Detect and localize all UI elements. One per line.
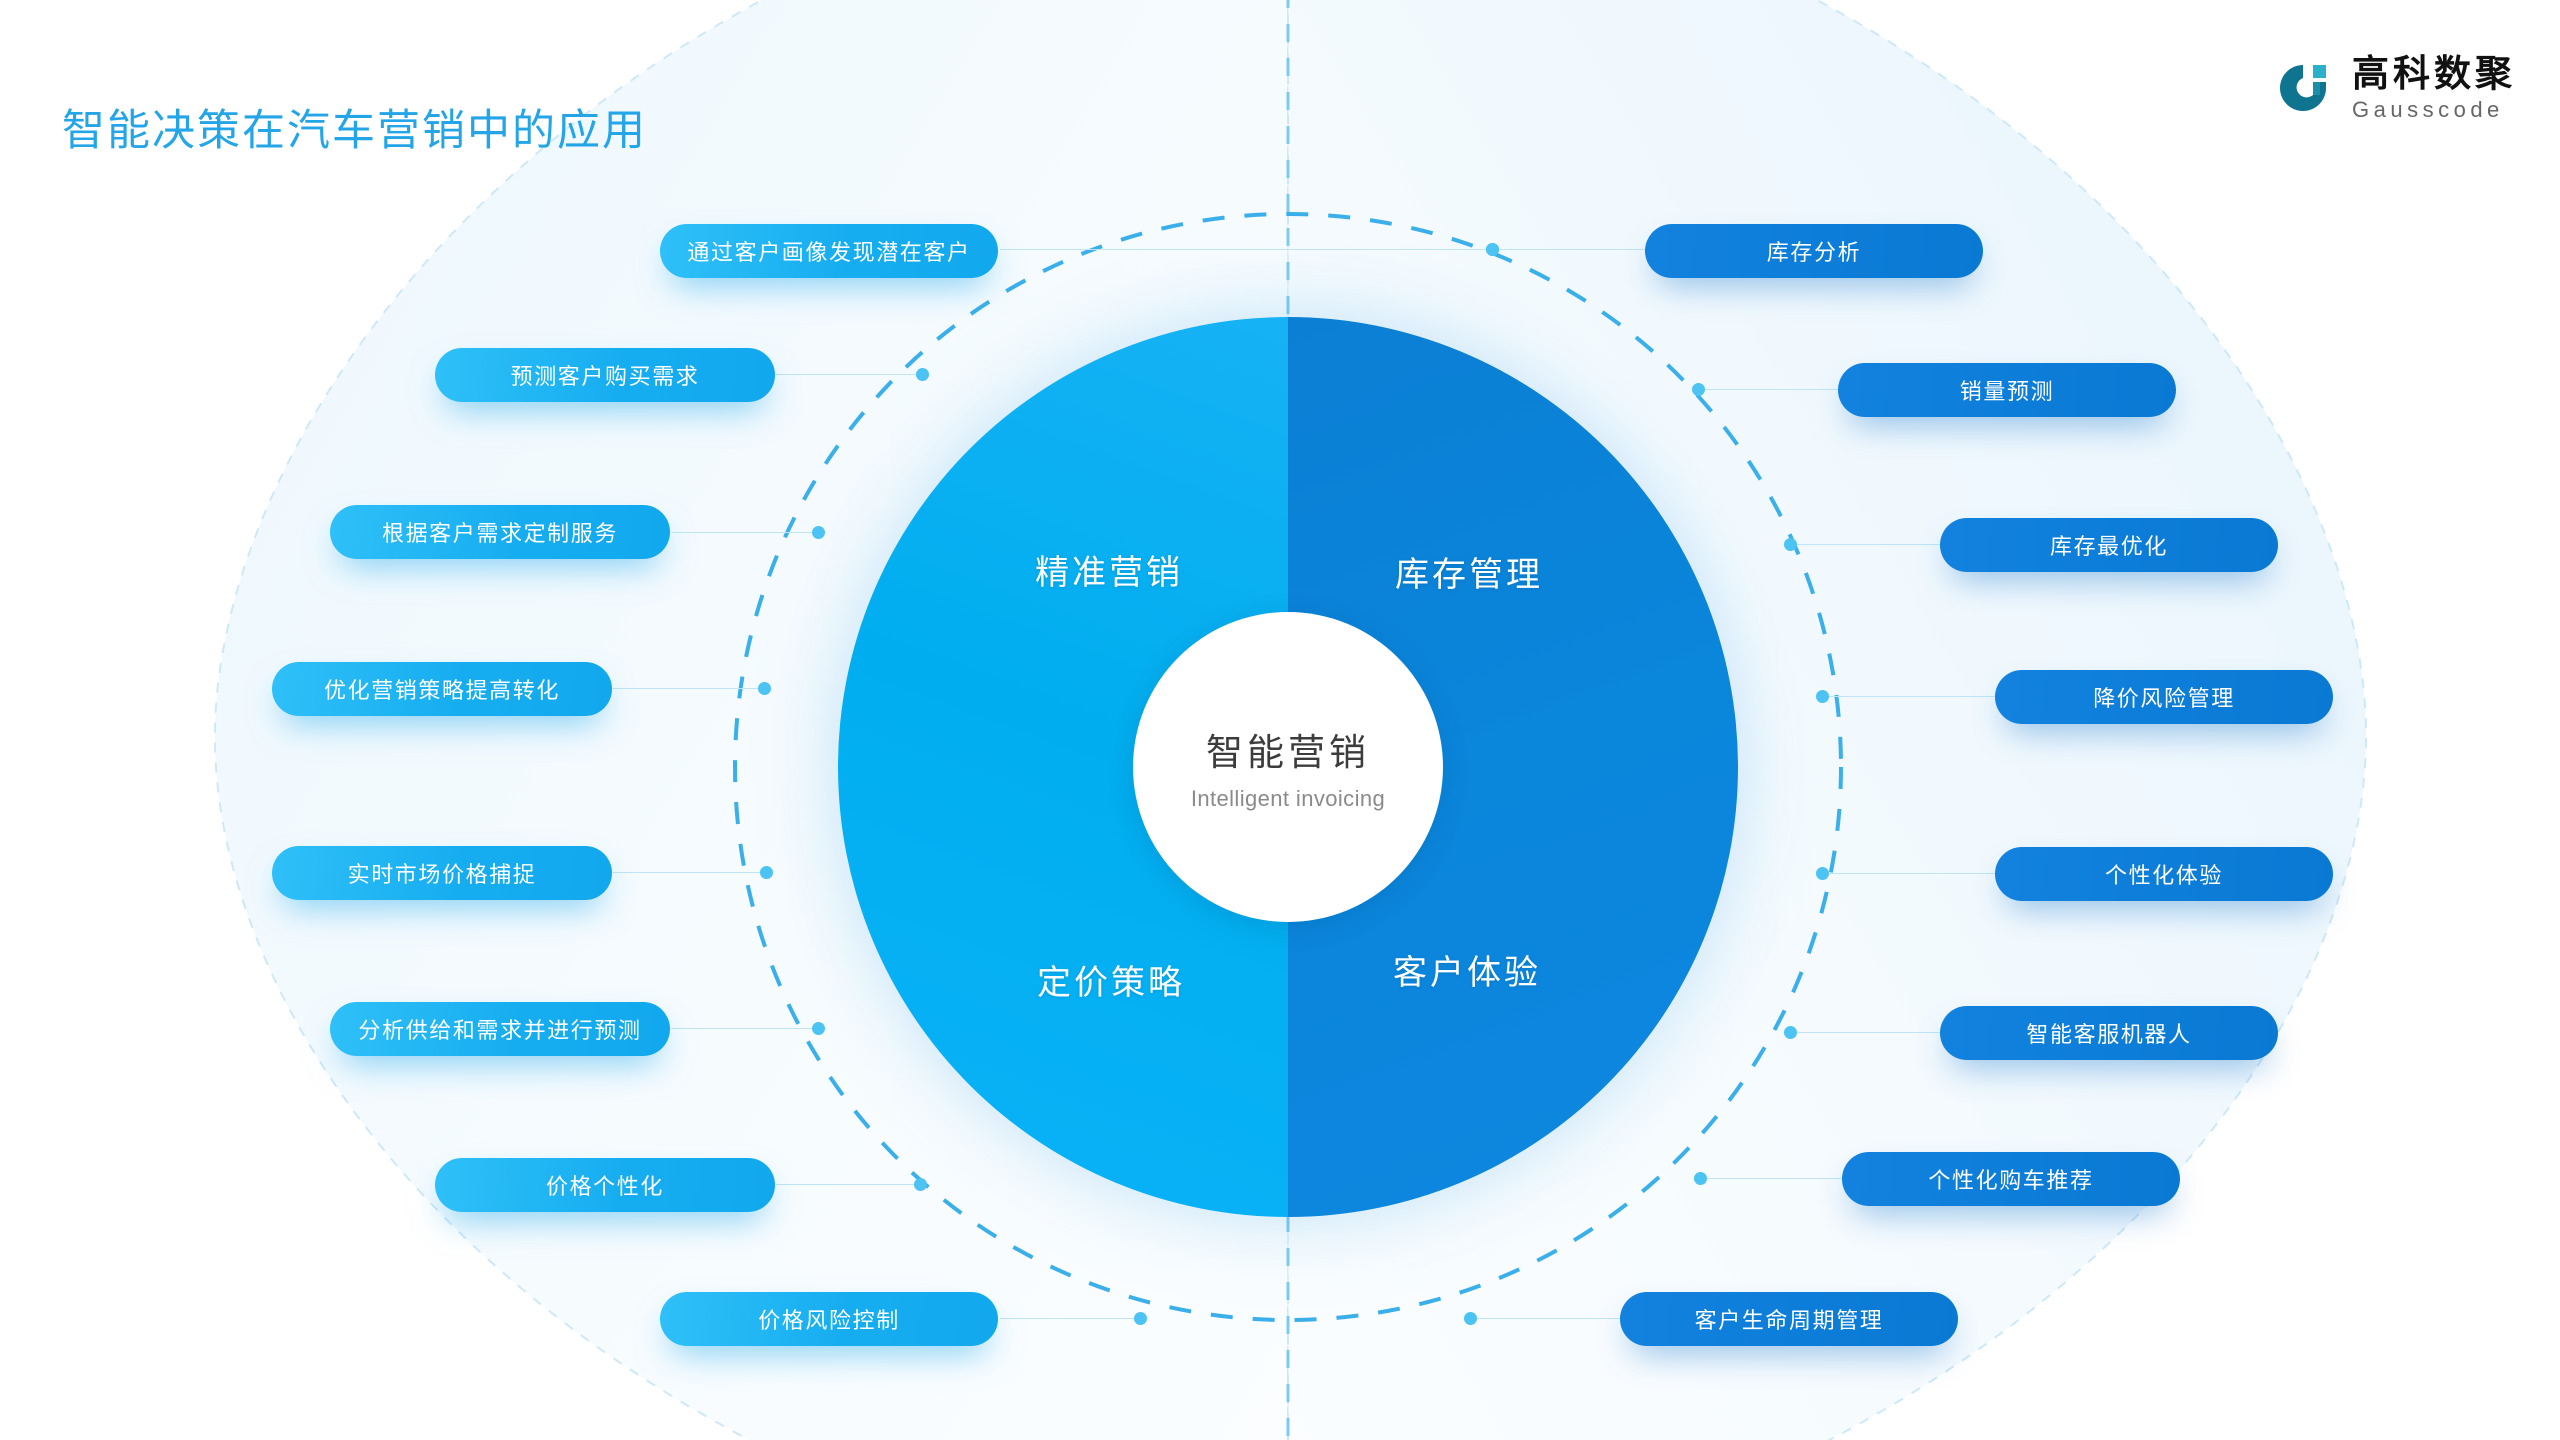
logo-name-cn: 高科数聚	[2352, 55, 2516, 92]
center-core-circle: 智能营销 Intelligent invoicing	[1133, 612, 1443, 922]
logo-name-en: Gausscode	[2352, 99, 2516, 121]
quadrant-label-bottom-left: 定价策略	[1037, 955, 1185, 1004]
gausscode-logo-icon	[2272, 57, 2334, 119]
left-pill-8[interactable]: 价格风险控制	[660, 1292, 998, 1346]
right-pill-8[interactable]: 客户生命周期管理	[1620, 1292, 1958, 1346]
right-pill-4[interactable]: 降价风险管理	[1995, 670, 2333, 724]
left-connector-line-4	[613, 688, 764, 689]
brand-logo: 高科数聚 Gausscode	[2272, 55, 2516, 121]
left-connector-dot-8	[1134, 1312, 1147, 1325]
right-connector-line-1	[1492, 249, 1645, 250]
left-pill-3[interactable]: 根据客户需求定制服务	[330, 505, 670, 559]
left-pill-6[interactable]: 分析供给和需求并进行预测	[330, 1002, 670, 1056]
right-connector-line-6	[1790, 1032, 1940, 1033]
left-connector-dot-5	[760, 866, 773, 879]
left-connector-line-1	[1000, 249, 1492, 250]
right-connector-dot-1	[1486, 243, 1499, 256]
left-connector-dot-4	[758, 682, 771, 695]
left-connector-line-5	[613, 872, 766, 873]
left-connector-line-8	[1000, 1318, 1140, 1319]
left-connector-dot-3	[812, 526, 825, 539]
right-connector-dot-8	[1464, 1312, 1477, 1325]
right-connector-dot-6	[1784, 1026, 1797, 1039]
right-connector-line-4	[1822, 696, 1995, 697]
left-connector-dot-6	[812, 1022, 825, 1035]
right-pill-1[interactable]: 库存分析	[1645, 224, 1983, 278]
quadrant-label-top-right: 库存管理	[1395, 547, 1543, 596]
left-connector-line-6	[671, 1028, 818, 1029]
left-pill-4[interactable]: 优化营销策略提高转化	[272, 662, 612, 716]
right-connector-line-3	[1790, 544, 1940, 545]
left-pill-1[interactable]: 通过客户画像发现潜在客户	[660, 224, 998, 278]
page-title: 智能决策在汽车营销中的应用	[62, 96, 647, 158]
left-connector-line-3	[671, 532, 818, 533]
right-connector-dot-5	[1816, 867, 1829, 880]
left-pill-7[interactable]: 价格个性化	[435, 1158, 775, 1212]
right-connector-dot-4	[1816, 690, 1829, 703]
right-pill-7[interactable]: 个性化购车推荐	[1842, 1152, 2180, 1206]
right-pill-2[interactable]: 销量预测	[1838, 363, 2176, 417]
right-pill-6[interactable]: 智能客服机器人	[1940, 1006, 2278, 1060]
right-pill-3[interactable]: 库存最优化	[1940, 518, 2278, 572]
right-connector-line-5	[1822, 873, 1995, 874]
right-pill-5[interactable]: 个性化体验	[1995, 847, 2333, 901]
right-connector-dot-3	[1784, 538, 1797, 551]
center-title-en: Intelligent invoicing	[1191, 786, 1385, 812]
right-connector-line-8	[1470, 1318, 1620, 1319]
left-pill-5[interactable]: 实时市场价格捕捉	[272, 846, 612, 900]
quadrant-label-bottom-right: 客户体验	[1393, 945, 1541, 994]
quadrant-label-top-left: 精准营销	[1035, 545, 1183, 594]
left-pill-2[interactable]: 预测客户购买需求	[435, 348, 775, 402]
center-title-cn: 智能营销	[1206, 722, 1370, 776]
infographic-canvas: 智能决策在汽车营销中的应用 高科数聚 Gausscode 精准营销 库存管理 定…	[0, 0, 2560, 1440]
